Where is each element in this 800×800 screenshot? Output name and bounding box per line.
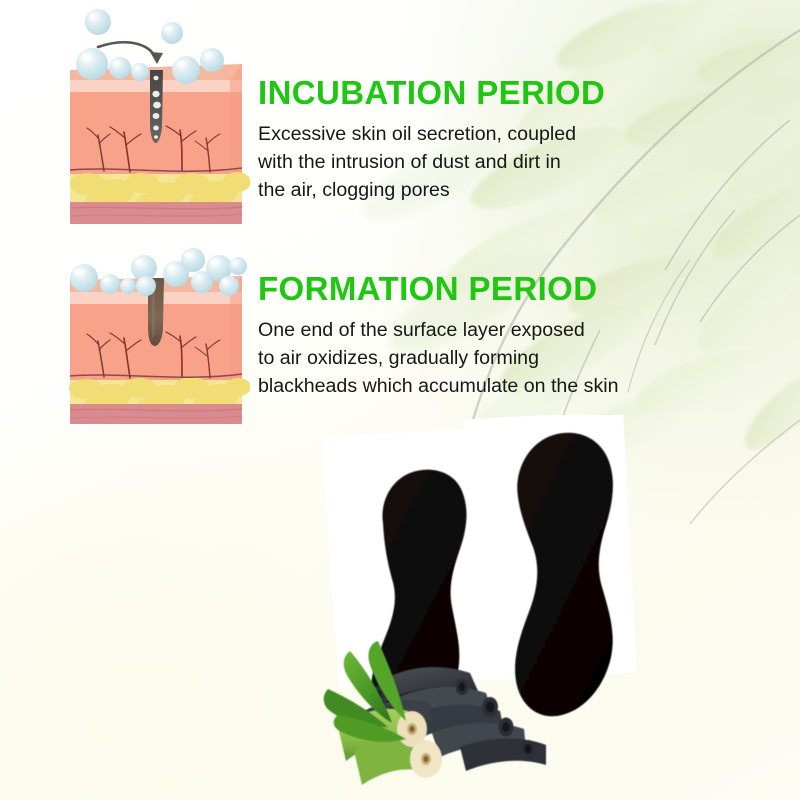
infographic-canvas: INCUBATION PERIOD Excessive skin oil sec… <box>0 0 800 800</box>
section-incubation-text: INCUBATION PERIOD Excessive skin oil sec… <box>258 76 605 204</box>
body-line: Excessive skin oil secretion, coupled <box>258 120 605 148</box>
skin-diagram-formation <box>62 234 250 430</box>
body-incubation-period: Excessive skin oil secretion, coupled wi… <box>258 120 605 204</box>
heading-formation-period: FORMATION PERIOD <box>258 272 619 307</box>
body-line: the air, clogging pores <box>258 176 605 204</box>
body-line: One end of the surface layer exposed <box>258 316 619 344</box>
body-line: to air oxidizes, gradually forming <box>258 344 619 372</box>
product-photo-nose-strips <box>320 415 800 800</box>
heading-incubation-period: INCUBATION PERIOD <box>258 76 605 111</box>
body-line: with the intrusion of dust and dirt in <box>258 148 605 176</box>
body-line: blackheads which accumulate on the skin <box>258 372 619 400</box>
muscle-layer <box>70 404 242 424</box>
muscle-layer <box>70 202 242 224</box>
clogged-pore <box>150 70 163 143</box>
body-formation-period: One end of the surface layer exposed to … <box>258 316 619 400</box>
flow-arrow-icon <box>98 42 163 64</box>
section-formation-text: FORMATION PERIOD One end of the surface … <box>258 272 619 400</box>
skin-diagram-incubation <box>62 2 250 228</box>
watermark-leaves <box>431 0 800 477</box>
